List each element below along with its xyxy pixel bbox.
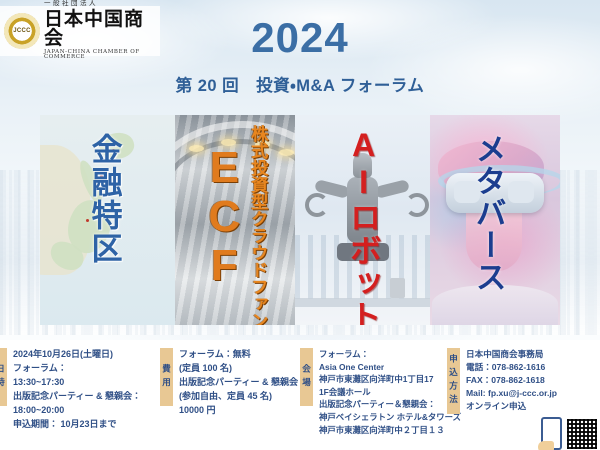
info-line: (定員 100 名) [179,362,300,376]
poster-root: JCCC 一般社団法人 日本中国商会 JAPAN-CHINA CHAMBER O… [0,0,600,450]
theme-panel-metaverse[interactable]: メタバース [430,115,560,325]
qr-code-icon[interactable] [566,418,598,450]
theme-panel-title-metaverse: メタバース [472,133,504,293]
theme-panel-group: 金融特区 ECF 株式投資型クラウドファンディング [40,115,560,325]
info-line: フォーラム： [13,362,160,376]
info-line: Mail: fp.xu@j-ccc.or.jp [466,387,600,400]
info-line: 電話：078-862-1616 [466,361,600,374]
year-heading: 2024 [0,14,600,62]
info-tag-venue: 会場 [300,348,313,406]
info-line: 10000 円 [179,404,300,418]
info-column-apply: 申込方法 日本中国商会事務局 電話：078-862-1616 FAX：078-8… [447,348,600,448]
info-line: オンライン申込 [466,400,600,413]
info-line: 出版記念パーティー＆懇親会： [319,398,447,411]
info-line: 神戸ベイシェラトン ホテル&タワーズ [319,411,447,424]
info-lines-apply: 日本中国商会事務局 電話：078-862-1616 FAX：078-862-16… [460,348,600,412]
org-prefix: 一般社団法人 [44,1,160,8]
info-line: (参加自由、定員 45 名) [179,390,300,404]
info-line: 神戸市東灘区向洋町中1丁目17 [319,373,447,386]
info-line: 出版記念パーティー & 懇親会： [13,390,160,404]
info-line: 1F会議ホール [319,386,447,399]
info-column-fee: 費用 フォーラム：無料 (定員 100 名) 出版記念パーティー & 懇親会： … [160,348,300,448]
event-details-bar: 日時 2024年10月26日(土曜日) フォーラム： 13:30~17:30 出… [0,348,600,448]
info-line: 神戸市東灘区向洋町中２丁目１３ [319,424,447,437]
event-subtitle: 第 20 回 投資・M&A フォーラム [0,72,600,96]
info-tag-apply: 申込方法 [447,348,460,414]
info-line: フォーラム：無料 [179,348,300,362]
info-line: 13:30~17:30 [13,376,160,390]
info-line: 18:00~20:00 [13,404,160,418]
info-line: Asia One Center [319,361,447,374]
info-line: フォーラム： [319,348,447,361]
info-column-venue: 会場 フォーラム： Asia One Center 神戸市東灘区向洋町中1丁目1… [300,348,447,448]
info-tag-fee: 費用 [160,348,173,406]
theme-panel-financial-zone[interactable]: 金融特区 [40,115,175,325]
info-tag-datetime: 日時 [0,348,7,406]
theme-panel-title-financial-zone: 金融特区 [88,133,120,265]
info-lines-venue: フォーラム： Asia One Center 神戸市東灘区向洋町中1丁目17 1… [313,348,447,436]
info-column-datetime: 日時 2024年10月26日(土曜日) フォーラム： 13:30~17:30 出… [0,348,160,448]
info-line: 申込期間： 10月23日まで [13,418,160,432]
info-lines-fee: フォーラム：無料 (定員 100 名) 出版記念パーティー & 懇親会： (参加… [173,348,300,418]
info-line: FAX：078-862-1618 [466,374,600,387]
info-line: 日本中国商会事務局 [466,348,600,361]
theme-panel-ecf[interactable]: ECF 株式投資型クラウドファンディング [175,115,295,325]
info-line: 出版記念パーティー & 懇親会： [179,376,300,390]
theme-panel-title-ai-robot: AIロボット [347,127,380,325]
info-line: 2024年10月26日(土曜日) [13,348,160,362]
theme-panel-title-ecf: ECF [201,143,246,290]
apply-media-group [541,417,598,450]
theme-panel-subtitle-ecf: 株式投資型クラウドファンディング [249,125,266,325]
info-lines-datetime: 2024年10月26日(土曜日) フォーラム： 13:30~17:30 出版記念… [7,348,160,432]
smartphone-icon [541,417,562,450]
theme-panel-ai-robot[interactable]: AIロボット [295,115,430,325]
